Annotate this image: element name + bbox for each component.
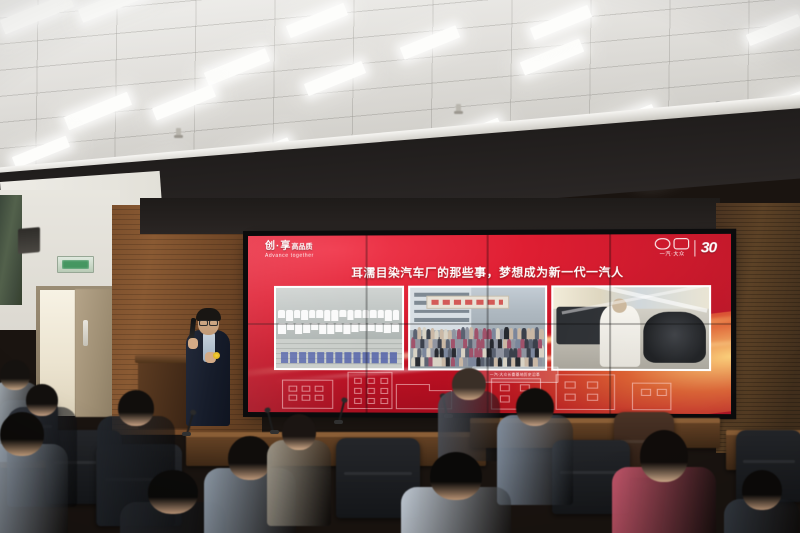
attendee-front-right-head [430,452,482,500]
slide-brand-logo-right: 一汽·大众 30 [655,238,716,258]
desk-microphone-base-1 [182,432,191,436]
conference-room-photo: 创·享高品质 Advance together 一汽·大众 30 耳濡目染汽车厂… [0,0,800,533]
anniversary-number: 30 [701,240,716,255]
attendee-woman-bob-body [267,440,331,526]
brand-en-text: Advance together [265,253,343,260]
presenter-glasses-icon [199,320,218,324]
slide-photo-1 [274,286,404,371]
slide-title: 耳濡目染汽车厂的那些事，梦想成为新一代一汽人 [248,264,731,281]
desk-microphone-base-2 [270,430,279,434]
faw-emblem-icon [655,238,671,249]
door-leaf[interactable] [75,289,117,417]
slide-brand-logo-left: 创·享高品质 Advance together [265,241,343,265]
slide-photo-3 [551,285,711,371]
brand-cn-sub: 高品质 [291,244,312,251]
brand-cn-main: 创·享 [265,241,291,252]
presenter-badge-icon [213,352,220,359]
desk-microphone-base-3 [334,420,343,424]
attendee-mid-grey-head [228,436,272,480]
attendee-left-suit-head [26,384,58,416]
led-video-wall[interactable]: 创·享高品质 Advance together 一汽·大众 30 耳濡目染汽车厂… [248,234,731,414]
slide-photo-2 [408,285,547,370]
presenter-hand [188,338,198,349]
logo-divider [695,240,696,256]
attendee-girl-ponytail-head [640,430,688,482]
door-handle[interactable] [83,320,88,346]
lectern-top [135,355,193,363]
faw-vw-label: 一汽·大众 [660,250,685,257]
attendee-left-rear-head [0,360,30,390]
faw-vw-badge: 一汽·大众 [655,238,689,258]
desk-microphone-2 [267,410,274,432]
screen-top-trim [140,198,720,234]
slide-footer-caption-text: 一汽·大众长春基地历史沿革 [490,372,540,378]
attendee-row2-left-head [0,412,44,456]
sprinkler-icon-2 [456,104,461,113]
vw-emblem-icon [674,238,690,249]
exit-sign [57,256,94,273]
attendee-blue-shirt-body [497,415,573,505]
brand-cn-text: 创·享高品质 [265,241,343,253]
attendee-front-black-head [148,470,198,514]
sprinkler-icon-1 [176,128,181,137]
attendee-bald-rear-body [438,391,500,461]
exit-sign-glyph [62,260,89,269]
attendee-blue-shirt-head [516,388,554,426]
wall-speaker-icon [18,227,40,254]
attendee-far-right-head [742,470,782,510]
attendee-row2-left-body [0,444,68,533]
slide-photo-strip [274,285,711,371]
attendee-bald-rear-head [452,368,486,400]
attendee-center-suit-head [118,390,154,426]
faw-vw-marks [655,238,689,249]
attendee-woman-bob-head [282,414,316,450]
